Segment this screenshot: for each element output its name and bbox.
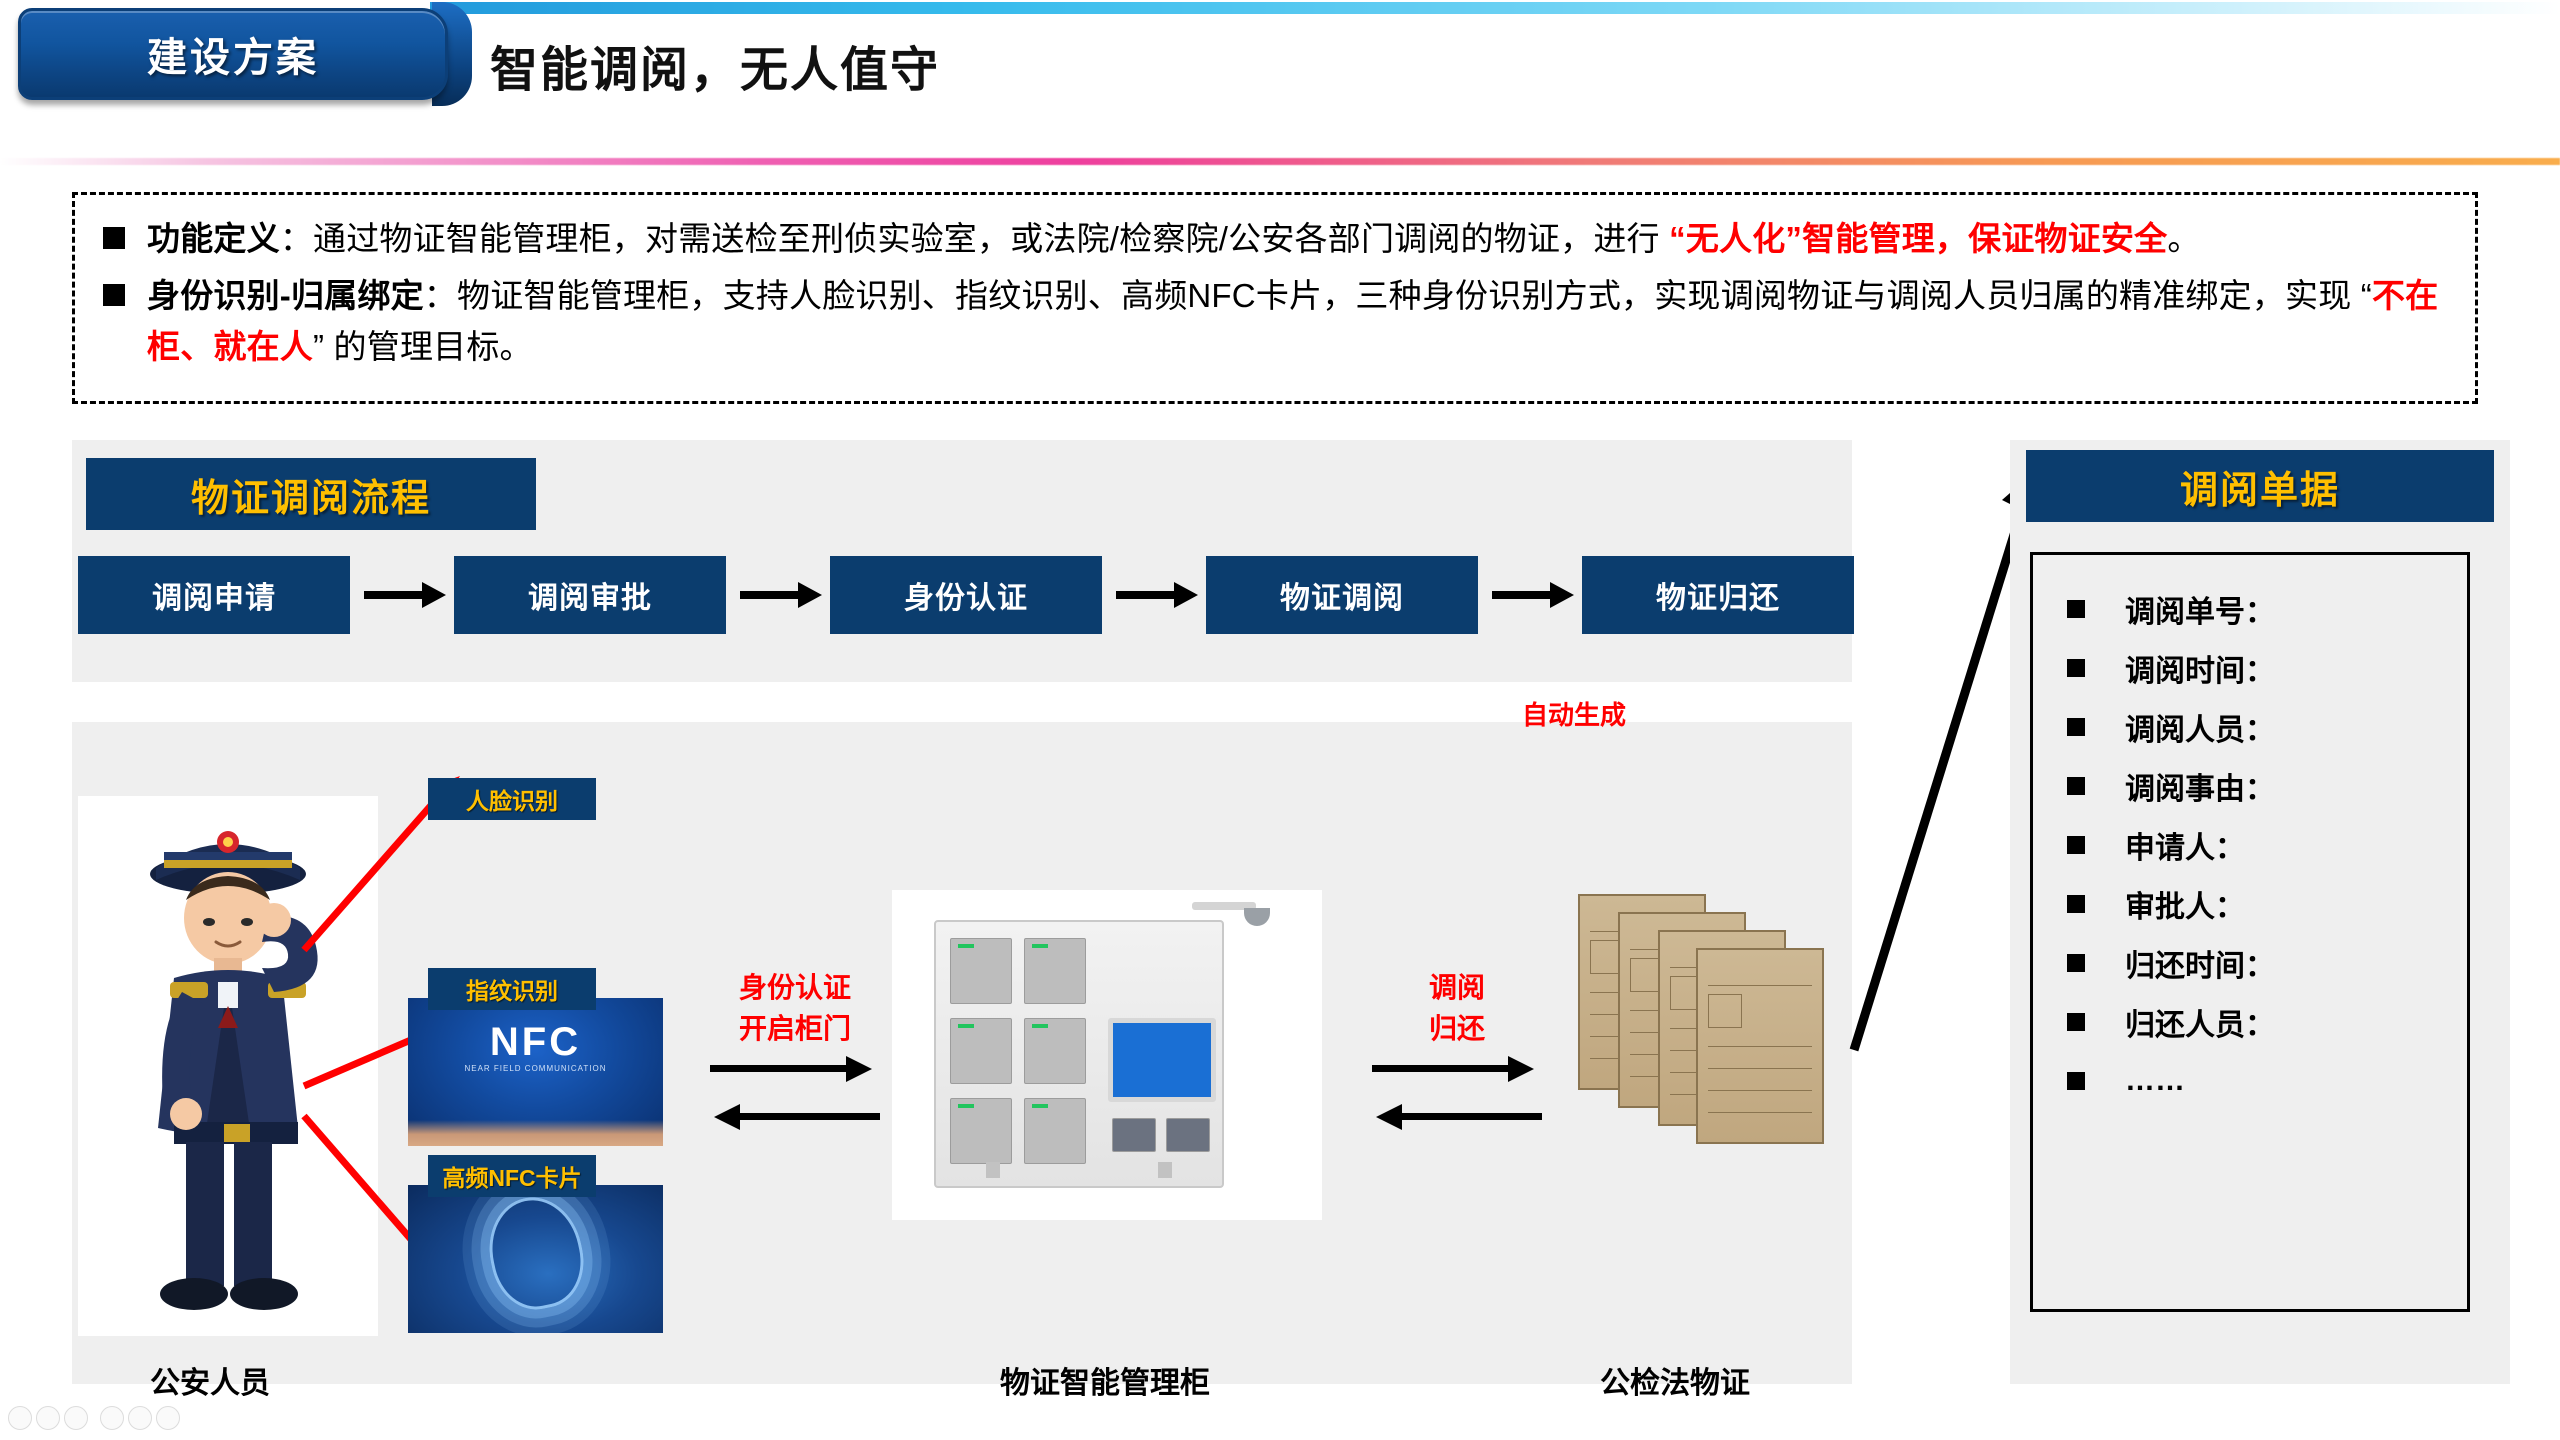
slide-root: 建设方案 智能调阅，无人值守 功能定义：通过物证智能管理柜，对需送检至刑侦实验室…	[0, 0, 2560, 1440]
flow-arrow-icon	[726, 580, 830, 610]
receipt-field-row: ……	[2067, 1051, 2467, 1110]
nfc-image: NFC NEAR FIELD COMMUNICATION	[408, 998, 663, 1146]
cabinet-body	[934, 920, 1224, 1188]
retrieve-label-line2: 归还	[1362, 1009, 1552, 1050]
header-section-tab[interactable]: 建设方案	[18, 8, 448, 100]
nfc-card-caption: 高频NFC卡片	[442, 1159, 581, 1193]
header-divider	[0, 158, 2560, 165]
footer-icon-2	[36, 1406, 60, 1430]
square-bullet-icon	[2067, 836, 2085, 854]
retrieve-label-line1: 调阅	[1362, 968, 1552, 1009]
description-bullet-2: 身份识别-归属绑定：物证智能管理柜，支持人脸识别、指纹识别、高频NFC卡片，三种…	[103, 270, 2453, 372]
flow-step-3[interactable]: 身份认证	[830, 556, 1102, 634]
flow-step-5[interactable]: 物证归还	[1582, 556, 1854, 634]
flow-step-5-label: 物证归还	[1656, 573, 1780, 617]
smart-evidence-cabinet-image	[892, 890, 1322, 1220]
page-title: 智能调阅，无人值守	[490, 30, 940, 100]
camera-icon	[1244, 908, 1270, 926]
fingerprint-image	[408, 1185, 663, 1333]
biometric-card-face[interactable]: 人脸识别	[408, 778, 668, 963]
autogen-label: 自动生成	[1522, 695, 1626, 732]
bidirectional-arrow-icon	[710, 1057, 880, 1127]
bidirectional-arrow-icon	[1372, 1057, 1542, 1127]
bullet-1-text: ：通过物证智能管理柜，对需送检至刑侦实验室，或法院/检察院/公安各部门调阅的物证…	[280, 220, 1669, 257]
square-bullet-icon	[2067, 1072, 2085, 1090]
fingerprint-caption: 指纹识别	[466, 972, 558, 1006]
footer-icon-4	[100, 1406, 124, 1430]
receipt-field-row: 调阅事由：	[2067, 756, 2467, 815]
flow-step-1-label: 调阅申请	[152, 573, 276, 617]
biometric-card-nfc[interactable]: 高频NFC卡片	[408, 1155, 668, 1340]
description-box: 功能定义：通过物证智能管理柜，对需送检至刑侦实验室，或法院/检察院/公安各部门调…	[72, 192, 2478, 404]
bullet-2-text-after: ” 的管理目标。	[313, 328, 533, 365]
footer-icon-6	[156, 1406, 180, 1430]
retrieve-return-arrow-group: 调阅 归还	[1362, 968, 1552, 1127]
footer-icon-3	[64, 1406, 88, 1430]
receipt-title-label: 调阅单据	[2180, 459, 2340, 514]
flow-arrow-icon	[350, 580, 454, 610]
flow-step-1[interactable]: 调阅申请	[78, 556, 350, 634]
receipt-field-row: 审批人：	[2067, 874, 2467, 933]
document-sheet	[1696, 948, 1824, 1144]
footer-bar	[0, 1396, 2560, 1440]
flow-step-3-label: 身份认证	[904, 573, 1028, 617]
receipt-field-row: 申请人：	[2067, 815, 2467, 874]
receipt-field-label: 调阅单号：	[2125, 587, 2275, 631]
nfc-wordmark: NFC	[408, 1020, 663, 1065]
square-bullet-icon	[2067, 1013, 2085, 1031]
bullet-1-label: 功能定义	[147, 220, 280, 257]
flow-step-2-label: 调阅审批	[528, 573, 652, 617]
receipt-field-row: 调阅人员：	[2067, 697, 2467, 756]
receipt-field-label: 调阅人员：	[2125, 705, 2275, 749]
receipt-field-label: 归还时间：	[2125, 941, 2275, 985]
flow-arrow-icon	[1478, 580, 1582, 610]
receipt-fields-box: 调阅单号： 调阅时间： 调阅人员： 调阅事由： 申请人： 审批人： 归还时间： …	[2030, 552, 2470, 1312]
flow-step-4[interactable]: 物证调阅	[1206, 556, 1478, 634]
flow-step-2[interactable]: 调阅审批	[454, 556, 726, 634]
header-sheen	[430, 2, 2560, 14]
square-bullet-icon	[2067, 777, 2085, 795]
receipt-field-label: 调阅时间：	[2125, 646, 2275, 690]
bullet-2-label: 身份识别-归属绑定	[147, 277, 424, 314]
receipt-field-row: 归还时间：	[2067, 933, 2467, 992]
identity-auth-label-line2: 开启柜门	[700, 1009, 890, 1050]
flow-arrow-icon	[1102, 580, 1206, 610]
face-recognition-image	[408, 808, 663, 956]
flow-title-label: 物证调阅流程	[191, 467, 431, 522]
receipt-field-row: 归还人员：	[2067, 992, 2467, 1051]
receipt-field-label: ……	[2125, 1064, 2185, 1098]
biometric-card-fingerprint[interactable]: NFC NEAR FIELD COMMUNICATION 指纹识别	[408, 968, 668, 1153]
square-bullet-icon	[103, 227, 125, 249]
evidence-documents-image	[1578, 890, 1838, 1220]
bullet-2-text: ：物证智能管理柜，支持人脸识别、指纹识别、高频NFC卡片，三种身份识别方式，实现…	[424, 277, 2372, 314]
receipt-title-banner: 调阅单据	[2026, 450, 2494, 522]
receipt-field-label: 申请人：	[2125, 823, 2245, 867]
nfc-card-caption-banner: 高频NFC卡片	[428, 1155, 596, 1197]
square-bullet-icon	[103, 284, 125, 306]
header-tab-label: 建设方案	[147, 25, 319, 83]
description-bullet-1: 功能定义：通过物证智能管理柜，对需送检至刑侦实验室，或法院/检察院/公安各部门调…	[103, 213, 2453, 264]
fingerprint-icon	[479, 1189, 592, 1318]
face-recognition-caption-banner: 人脸识别	[428, 778, 596, 820]
receipt-field-row: 调阅时间：	[2067, 638, 2467, 697]
square-bullet-icon	[2067, 954, 2085, 972]
fingerprint-caption-banner: 指纹识别	[428, 968, 596, 1010]
identity-auth-arrow-group: 身份认证 开启柜门	[700, 968, 890, 1127]
receipt-field-label: 审批人：	[2125, 882, 2245, 926]
square-bullet-icon	[2067, 600, 2085, 618]
flow-step-4-label: 物证调阅	[1280, 573, 1404, 617]
footer-icon-5	[128, 1406, 152, 1430]
bullet-1-highlight: “无人化”智能管理，保证物证安全	[1669, 220, 2167, 257]
face-recognition-caption: 人脸识别	[466, 782, 558, 816]
hands-graphic	[408, 1120, 663, 1146]
bullet-1-text-after: 。	[2167, 220, 2200, 257]
square-bullet-icon	[2067, 895, 2085, 913]
receipt-field-row: 调阅单号：	[2067, 579, 2467, 638]
flow-steps: 调阅申请 调阅审批 身份认证 物证调阅 物证归还	[78, 556, 1848, 634]
cabinet-touchscreen[interactable]	[1108, 1018, 1216, 1102]
nfc-subtitle: NEAR FIELD COMMUNICATION	[408, 1064, 663, 1073]
receipt-field-label: 归还人员：	[2125, 1000, 2275, 1044]
receipt-field-label: 调阅事由：	[2125, 764, 2275, 808]
flow-title-banner: 物证调阅流程	[86, 458, 536, 530]
square-bullet-icon	[2067, 659, 2085, 677]
footer-icon-1	[8, 1406, 32, 1430]
square-bullet-icon	[2067, 718, 2085, 736]
identity-auth-label-line1: 身份认证	[700, 968, 890, 1009]
